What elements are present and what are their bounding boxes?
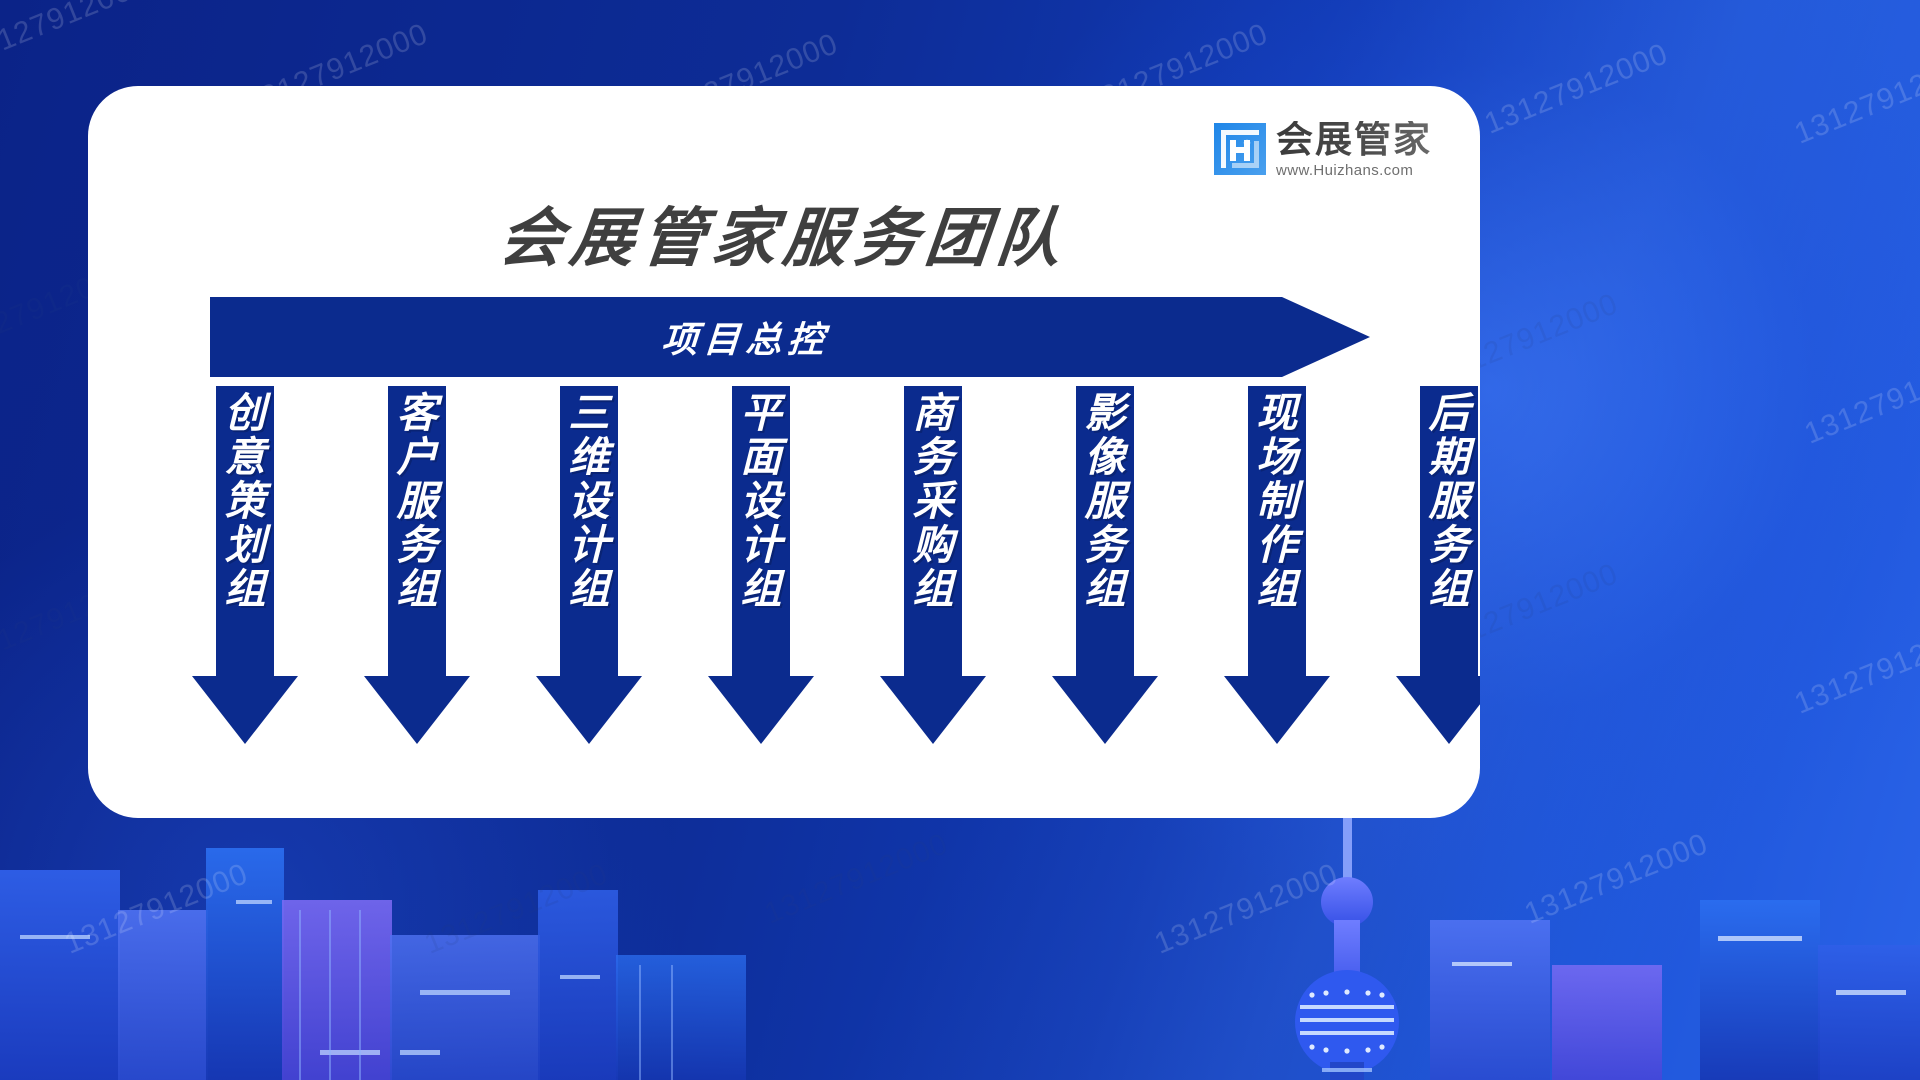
team-arrow[interactable]: 创意策划组 [192,386,298,776]
arrow-head-down-icon [1396,676,1480,744]
team-arrow-label-char: 务 [1429,524,1470,567]
brand-text-block: 会展管家 www.Huizhans.com [1276,121,1432,179]
team-arrow-label-char: 现 [1257,392,1298,435]
team-arrow-label-char: 务 [1085,524,1126,567]
team-arrow[interactable]: 影像服务组 [1052,386,1158,776]
team-arrow-label: 客户服务组 [388,386,446,678]
brand-logo: 会展管家 www.Huizhans.com [1214,121,1432,179]
team-arrow-label-char: 组 [569,568,610,611]
team-arrow-label: 平面设计组 [732,386,790,678]
team-arrow-label: 影像服务组 [1076,386,1134,678]
team-arrow-label-char: 商 [913,392,954,435]
team-arrow-label-char: 划 [225,524,266,567]
page-title: 会展管家服务团队 [88,187,1480,279]
team-arrow-label-char: 计 [569,524,610,567]
team-arrow-label: 创意策划组 [216,386,274,678]
brand-name: 会展管家 [1276,121,1432,159]
team-arrow-label-char: 服 [1085,480,1126,523]
team-arrow-label-char: 组 [741,568,782,611]
content-card: 会展管家 www.Huizhans.com 会展管家服务团队 项目总控 创意策划… [88,86,1480,818]
team-arrow-label-char: 创 [225,392,266,435]
team-arrow-label-char: 采 [913,480,954,523]
team-arrow-label-char: 后 [1429,392,1470,435]
team-arrow-label-char: 作 [1257,524,1298,567]
arrow-head-down-icon [880,676,986,744]
team-arrow-label-char: 务 [913,436,954,479]
team-arrow-label-char: 面 [741,436,782,479]
team-arrow-label-char: 组 [397,568,438,611]
team-arrow-label-char: 期 [1429,436,1470,479]
project-control-banner: 项目总控 [210,297,1370,377]
arrow-head-down-icon [708,676,814,744]
arrow-head-down-icon [536,676,642,744]
team-arrow-label-char: 客 [397,392,438,435]
team-arrow-label: 三维设计组 [560,386,618,678]
team-arrow-label-char: 务 [397,524,438,567]
huizhans-h-monogram-icon [1214,123,1266,175]
team-arrow-label-char: 像 [1085,436,1126,479]
team-arrow-label-char: 策 [225,480,266,523]
team-arrow-label-char: 服 [1429,480,1470,523]
team-arrow-label-char: 设 [741,480,782,523]
team-arrow-label-char: 组 [225,568,266,611]
team-arrow-label-char: 计 [741,524,782,567]
team-arrow-label-char: 影 [1085,392,1126,435]
team-arrow-label: 后期服务组 [1420,386,1478,678]
team-arrow-label: 商务采购组 [904,386,962,678]
team-arrow-label-char: 维 [569,436,610,479]
team-arrow-label-char: 组 [1257,568,1298,611]
arrow-head-down-icon [1052,676,1158,744]
banner-label: 项目总控 [207,297,1285,377]
team-arrow-row: 创意策划组客户服务组三维设计组平面设计组商务采购组影像服务组现场制作组后期服务组 [192,386,1392,776]
arrow-head-down-icon [1224,676,1330,744]
arrow-head-down-icon [192,676,298,744]
team-arrow-label-char: 场 [1257,436,1298,479]
team-arrow-label-char: 意 [225,436,266,479]
team-arrow-label: 现场制作组 [1248,386,1306,678]
team-arrow-label-char: 组 [1085,568,1126,611]
team-arrow-label-char: 设 [569,480,610,523]
team-arrow-label-char: 三 [569,392,610,435]
brand-url: www.Huizhans.com [1276,162,1413,179]
team-arrow[interactable]: 商务采购组 [880,386,986,776]
team-arrow-label-char: 平 [741,392,782,435]
team-arrow[interactable]: 三维设计组 [536,386,642,776]
team-arrow-label-char: 组 [1429,568,1470,611]
arrow-head-down-icon [364,676,470,744]
team-arrow-label-char: 购 [913,524,954,567]
team-arrow-label-char: 组 [913,568,954,611]
team-arrow[interactable]: 客户服务组 [364,386,470,776]
team-arrow-label-char: 制 [1257,480,1298,523]
team-arrow[interactable]: 现场制作组 [1224,386,1330,776]
team-arrow[interactable]: 后期服务组 [1396,386,1480,776]
team-arrow-label-char: 户 [397,436,438,479]
team-arrow-label-char: 服 [397,480,438,523]
team-arrow[interactable]: 平面设计组 [708,386,814,776]
